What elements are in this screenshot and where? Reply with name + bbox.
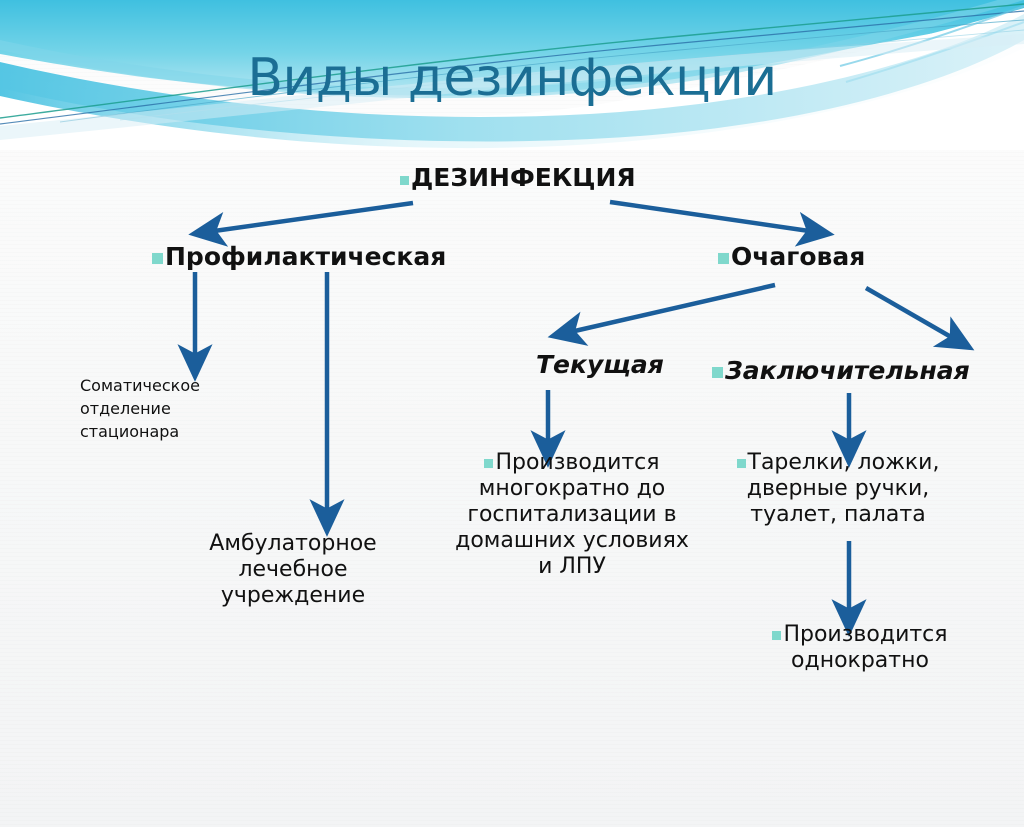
slide-canvas: Виды дезинфекции ДЕЗИНФЕКЦИЯ Профил: [0, 0, 1024, 827]
edge-dezinfekciya-profilakticheskaya: [207, 203, 413, 232]
diagram-node-label: Текущая: [536, 350, 664, 379]
edge-ochagovaya-zaklyuchitelnaya: [866, 288, 958, 341]
diagram-node-zaklyuchitelnaya[interactable]: Заключительная: [712, 356, 970, 386]
diagram-node-tarelki[interactable]: Тарелки, ложки, дверные ручки, туалет, п…: [724, 450, 952, 528]
bullet-square-icon: [718, 253, 729, 264]
bullet-square-icon: [484, 459, 493, 468]
bullet-square-icon: [400, 176, 409, 185]
diagram-node-proizvoditsya-mnogokratno[interactable]: Производится многократно до госпитализац…: [452, 450, 692, 580]
diagram-node-label: Амбулаторное лечебное учреждение: [209, 531, 376, 608]
diagram-node-label: Очаговая: [731, 242, 865, 271]
diagram-node-ochagovaya[interactable]: Очаговая: [718, 242, 865, 272]
diagram-node-dezinfekciya[interactable]: ДЕЗИНФЕКЦИЯ: [400, 163, 636, 193]
diagram-node-label: Соматическое отделение стационара: [80, 376, 200, 441]
diagram-node-label: Тарелки, ложки, дверные ручки, туалет, п…: [747, 450, 940, 527]
bullet-square-icon: [712, 367, 723, 378]
diagram-node-label: Производится однократно: [783, 622, 947, 673]
diagram-node-label: Профилактическая: [165, 242, 446, 271]
diagram-node-label: Производится многократно до госпитализац…: [455, 450, 689, 579]
edge-ochagovaya-tekushaya: [566, 285, 775, 333]
diagram-node-tekushaya[interactable]: Текущая: [536, 350, 664, 380]
page-title: Виды дезинфекции: [0, 48, 1024, 108]
bullet-square-icon: [737, 459, 746, 468]
edge-dezinfekciya-ochagovaya: [610, 202, 816, 232]
diagram-node-label: Заключительная: [725, 356, 970, 385]
diagram-node-somaticheskoe[interactable]: Соматическое отделение стационара: [80, 374, 270, 444]
diagram-node-profilakticheskaya[interactable]: Профилактическая: [152, 242, 446, 272]
bullet-square-icon: [772, 631, 781, 640]
diagram-node-label: ДЕЗИНФЕКЦИЯ: [411, 163, 636, 192]
diagram-node-ambulatornoe[interactable]: Амбулаторное лечебное учреждение: [178, 531, 408, 609]
bullet-square-icon: [152, 253, 163, 264]
diagram-node-proizvoditsya-odnokratno[interactable]: Производится однократно: [750, 622, 970, 674]
